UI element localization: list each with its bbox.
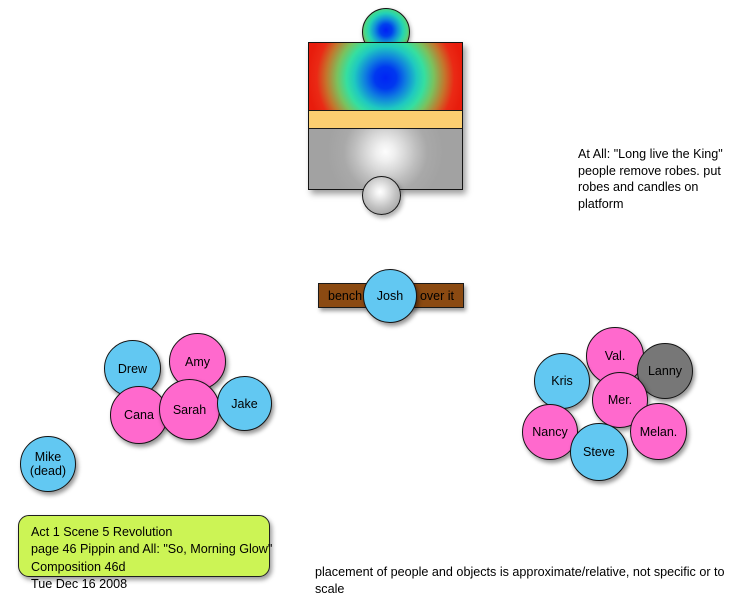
platform-rect[interactable] — [308, 42, 463, 190]
stone-orb-icon — [362, 176, 401, 215]
person-melan[interactable]: Melan. — [630, 403, 687, 460]
flame-band — [309, 43, 462, 110]
person-mike[interactable]: Mike(dead) — [20, 436, 76, 492]
person-name: Mer. — [608, 393, 632, 407]
person-name: Melan. — [640, 425, 678, 439]
person-steve[interactable]: Steve — [570, 423, 628, 481]
person-name: Lanny — [648, 364, 682, 378]
person-name: Sarah — [173, 403, 206, 417]
stage-blocking-diagram: bench over it DrewAmyCanaSarahJakeMike(d… — [0, 0, 753, 602]
person-name: Jake — [231, 397, 257, 411]
info-line-3: Composition 46d — [31, 559, 257, 576]
info-line-2: page 46 Pippin and All: "So, Morning Glo… — [31, 541, 257, 558]
info-line-1: Act 1 Scene 5 Revolution — [31, 524, 257, 541]
person-status: (dead) — [30, 464, 66, 478]
bench-left-label: bench — [328, 289, 362, 303]
person-name: Josh — [377, 289, 403, 303]
scene-info-box[interactable]: Act 1 Scene 5 Revolutionpage 46 Pippin a… — [18, 515, 270, 577]
person-name: Kris — [551, 374, 573, 388]
person-name: Drew — [118, 362, 147, 376]
person-name: Val. — [605, 349, 626, 363]
person-name: Amy — [185, 355, 210, 369]
gold-band — [309, 110, 462, 129]
info-line-4: Tue Dec 16 2008 — [31, 576, 257, 593]
person-name: Mike — [35, 450, 61, 464]
person-jake[interactable]: Jake — [217, 376, 272, 431]
person-kris[interactable]: Kris — [534, 353, 590, 409]
scale-disclaimer: placement of people and objects is appro… — [315, 564, 753, 597]
person-name: Nancy — [532, 425, 567, 439]
stage-direction-note: At All: "Long live the King" people remo… — [578, 146, 723, 213]
bench-right-label: over it — [420, 289, 454, 303]
person-josh[interactable]: Josh — [363, 269, 417, 323]
person-name: Steve — [583, 445, 615, 459]
person-name: Cana — [124, 408, 154, 422]
person-sarah[interactable]: Sarah — [159, 379, 220, 440]
